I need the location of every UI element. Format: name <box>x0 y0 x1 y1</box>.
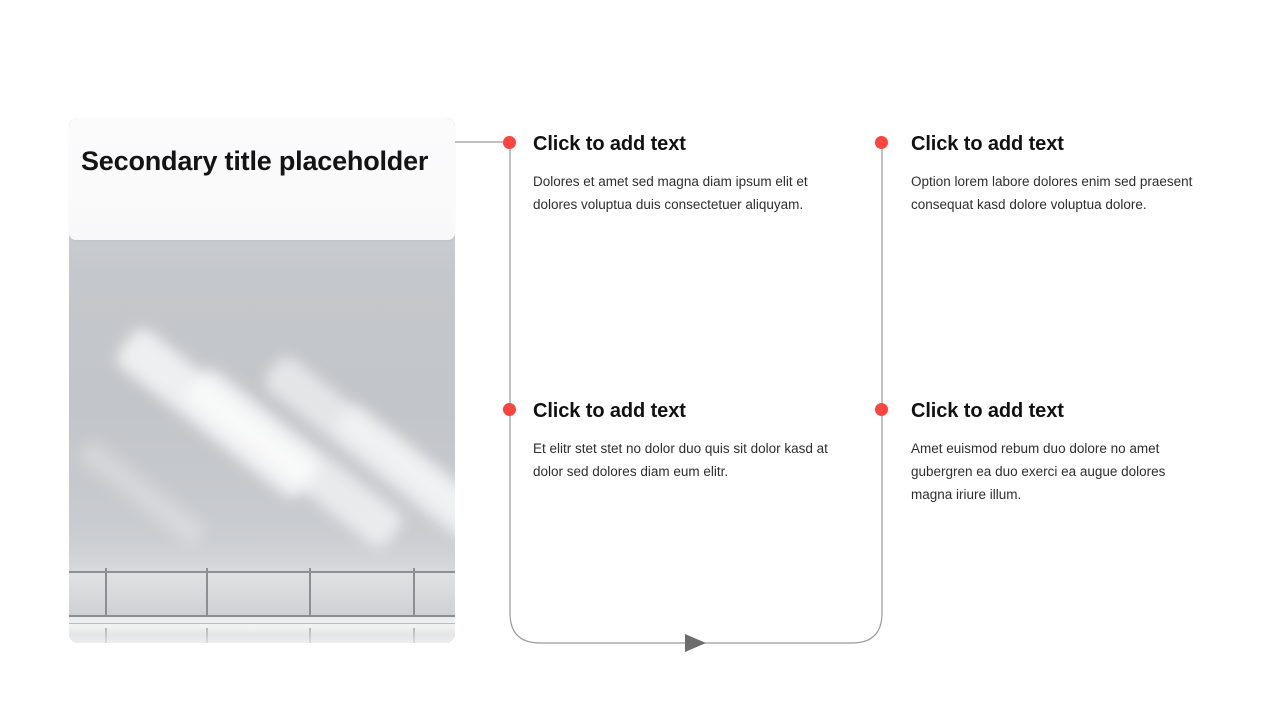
block-body: Amet euismod rebum duo dolore no amet gu… <box>911 437 1203 507</box>
block-body: Dolores et amet sed magna diam ipsum eli… <box>533 170 833 216</box>
connector-path <box>0 0 1280 720</box>
node-dot-3[interactable] <box>503 403 516 416</box>
block-heading: Click to add text <box>533 400 833 423</box>
text-block-top-left[interactable]: Click to add text Dolores et amet sed ma… <box>533 133 833 216</box>
node-dot-1[interactable] <box>503 136 516 149</box>
block-body: Et elitr stet stet no dolor duo quis sit… <box>533 437 833 483</box>
arrow-marker <box>685 634 706 652</box>
text-block-bottom-right[interactable]: Click to add text Amet euismod rebum duo… <box>911 400 1203 507</box>
block-heading: Click to add text <box>911 133 1203 156</box>
node-dot-2[interactable] <box>875 136 888 149</box>
node-dot-4[interactable] <box>875 403 888 416</box>
block-body: Option lorem labore dolores enim sed pra… <box>911 170 1203 216</box>
block-heading: Click to add text <box>533 133 833 156</box>
text-block-bottom-left[interactable]: Click to add text Et elitr stet stet no … <box>533 400 833 483</box>
slide-canvas: Secondary title placeholder Click to add… <box>0 0 1280 720</box>
block-heading: Click to add text <box>911 400 1203 423</box>
text-block-top-right[interactable]: Click to add text Option lorem labore do… <box>911 133 1203 216</box>
